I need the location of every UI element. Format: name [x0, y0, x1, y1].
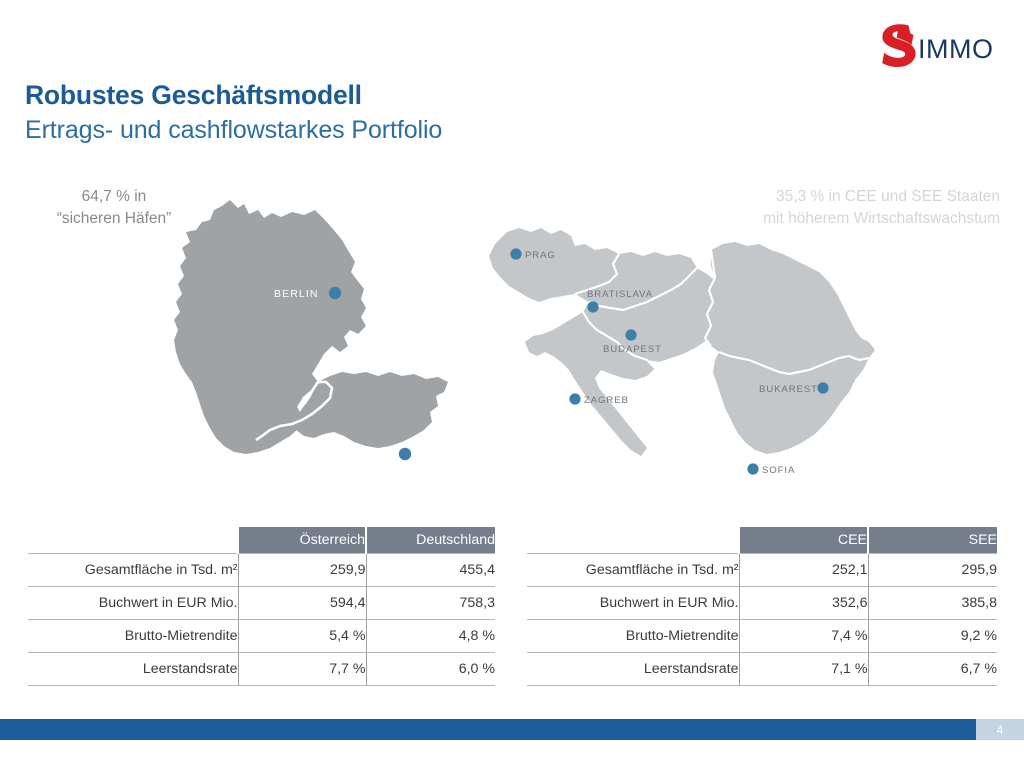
city-sofia: SOFIA — [747, 463, 795, 476]
city-label-berlin: BERLIN — [274, 288, 319, 300]
page-subtitle: Ertrags- und cashflowstarkes Portfolio — [25, 116, 442, 145]
cell-gesamtflaeche-osterreich: 259,9 — [238, 553, 366, 586]
cell-leerstandsrate-cee: 7,1 % — [739, 652, 868, 685]
map-germany-austria: BERLIN WIEN — [152, 186, 482, 516]
cell-mietrendite-deutschland: 4,8 % — [366, 619, 495, 652]
row-label-buchwert: Buchwert in EUR Mio. — [527, 586, 739, 619]
city-dot-prag — [510, 248, 521, 259]
table-row: Leerstandsrate 7,1 % 6,7 % — [527, 652, 997, 685]
table-cee-see: CEE SEE Gesamtfläche in Tsd. m² 252,1 29… — [527, 527, 997, 686]
cell-leerstandsrate-see: 6,7 % — [868, 652, 997, 685]
logo-wordmark: IMMO — [918, 34, 994, 64]
table-row: Brutto-Mietrendite 7,4 % 9,2 % — [527, 619, 997, 652]
cell-leerstandsrate-deutschland: 6,0 % — [366, 652, 495, 685]
city-dot-zagreb — [569, 393, 580, 404]
city-label-prag: PRAG — [525, 250, 556, 261]
city-label-wien: WIEN — [357, 449, 389, 461]
city-dot-bukarest — [817, 382, 828, 393]
table-row: Gesamtfläche in Tsd. m² 252,1 295,9 — [527, 553, 997, 586]
page-number: 4 — [976, 719, 1024, 740]
cell-buchwert-cee: 352,6 — [739, 586, 868, 619]
table-header-row: Österreich Deutschland — [28, 527, 495, 553]
header-blank — [527, 527, 739, 553]
row-label-mietrendite: Brutto-Mietrendite — [527, 619, 739, 652]
city-label-bukarest: BUKAREST — [759, 384, 818, 395]
annotation-east-line1: 35,3 % in CEE und SEE Staaten — [640, 186, 1000, 208]
page-title: Robustes Geschäftsmodell — [25, 80, 362, 111]
cell-mietrendite-cee: 7,4 % — [739, 619, 868, 652]
city-label-budapest: BUDAPEST — [603, 344, 662, 355]
column-header-deutschland: Deutschland — [366, 527, 495, 553]
city-dot-budapest — [625, 329, 636, 340]
city-prag: PRAG — [510, 248, 555, 261]
cell-buchwert-see: 385,8 — [868, 586, 997, 619]
table-row: Buchwert in EUR Mio. 352,6 385,8 — [527, 586, 997, 619]
table-austria-germany: Österreich Deutschland Gesamtfläche in T… — [28, 527, 495, 686]
table-row: Leerstandsrate 7,7 % 6,0 % — [28, 652, 495, 685]
column-header-osterreich: Österreich — [238, 527, 366, 553]
row-label-leerstandsrate: Leerstandsrate — [527, 652, 739, 685]
city-wien: WIEN — [357, 448, 411, 461]
row-label-leerstandsrate: Leerstandsrate — [28, 652, 238, 685]
city-dot-bratislava — [587, 301, 598, 312]
row-label-mietrendite: Brutto-Mietrendite — [28, 619, 238, 652]
cell-mietrendite-osterreich: 5,4 % — [238, 619, 366, 652]
row-label-gesamtflaeche: Gesamtfläche in Tsd. m² — [28, 553, 238, 586]
table-row: Buchwert in EUR Mio. 594,4 758,3 — [28, 586, 495, 619]
city-zagreb: ZAGREB — [569, 393, 628, 406]
footer-bar — [0, 719, 976, 740]
cell-gesamtflaeche-see: 295,9 — [868, 553, 997, 586]
logo-s-mark — [882, 24, 915, 67]
cell-gesamtflaeche-cee: 252,1 — [739, 553, 868, 586]
city-label-zagreb: ZAGREB — [584, 395, 629, 406]
cell-gesamtflaeche-deutschland: 455,4 — [366, 553, 495, 586]
city-dot-wien — [399, 448, 411, 460]
cell-leerstandsrate-osterreich: 7,7 % — [238, 652, 366, 685]
city-label-bratislava: BRATISLAVA — [587, 289, 653, 300]
row-label-gesamtflaeche: Gesamtfläche in Tsd. m² — [527, 553, 739, 586]
table-header-row: CEE SEE — [527, 527, 997, 553]
column-header-see: SEE — [868, 527, 997, 553]
country-romania — [705, 242, 875, 374]
cell-buchwert-osterreich: 594,4 — [238, 586, 366, 619]
simmo-logo: IMMO — [878, 22, 998, 68]
table-row: Brutto-Mietrendite 5,4 % 4,8 % — [28, 619, 495, 652]
table-row: Gesamtfläche in Tsd. m² 259,9 455,4 — [28, 553, 495, 586]
cell-buchwert-deutschland: 758,3 — [366, 586, 495, 619]
city-label-sofia: SOFIA — [762, 465, 795, 476]
header-blank — [28, 527, 238, 553]
city-dot-berlin — [329, 287, 341, 299]
row-label-buchwert: Buchwert in EUR Mio. — [28, 586, 238, 619]
map-cee-see: PRAG BRATISLAVA BUDAPEST ZAGREB BUKAREST… — [483, 210, 883, 515]
city-dot-sofia — [747, 463, 758, 474]
column-header-cee: CEE — [739, 527, 868, 553]
cell-mietrendite-see: 9,2 % — [868, 619, 997, 652]
